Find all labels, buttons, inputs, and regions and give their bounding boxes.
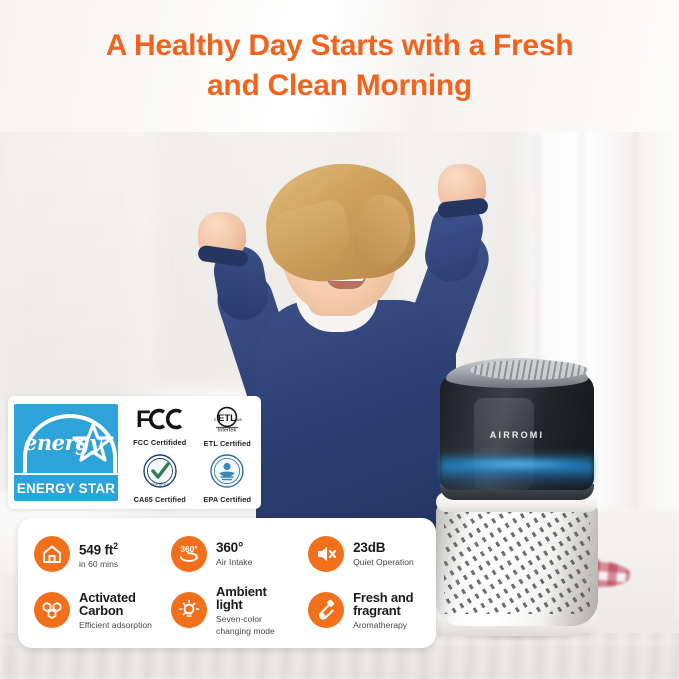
cert-label-fcc: FCC Certifided — [133, 438, 186, 447]
cert-item-fcc: F FCC Certifided — [126, 401, 194, 453]
feature-aromatherapy: Fresh and fragrant Aromatherapy — [308, 591, 436, 630]
air-purifier-product: AIRROMI — [434, 358, 600, 638]
svg-text:CERTIFIED: CERTIFIED — [150, 483, 169, 487]
feature-title: 360° — [216, 541, 252, 555]
feature-noise-level: 23dB Quiet Operation — [308, 536, 436, 572]
feature-subtitle: Aromatherapy — [353, 620, 413, 630]
svg-text:F: F — [136, 407, 150, 431]
energy-star-logo-top: energy — [14, 404, 118, 473]
product-marketing-image: AIRROMI A Healthy Day Starts with a Fres… — [0, 0, 679, 679]
energy-star-wordmark-text: ENERGY STAR — [17, 481, 115, 496]
feature-highlights-card: 549 ft2 in 60 mins 360° 360° Air Intake — [18, 518, 436, 648]
feature-title: Activated — [79, 591, 152, 605]
coverage-value: 549 ft — [79, 542, 113, 557]
svg-text:c: c — [214, 417, 217, 422]
led-glow-core — [444, 458, 590, 470]
cert-label-etl: ETL Certified — [204, 439, 251, 448]
cert-item-etl: ETL c us Intertek ETL Certified — [194, 401, 262, 453]
ca65-seal-icon: CERTIFIED — [143, 454, 177, 493]
energy-star-wordmark: ENERGY STAR — [14, 475, 118, 501]
feature-row-2: Activated Carbon Efficient adsorption — [18, 582, 436, 638]
honeycomb-carbon-icon — [34, 592, 70, 628]
led-glow-ring — [440, 450, 594, 490]
feature-title: Fresh and — [353, 591, 413, 605]
svg-text:Intertek: Intertek — [218, 427, 237, 431]
energy-star-logo: energy ENERGY STAR — [14, 404, 118, 501]
feature-text: 23dB Quiet Operation — [353, 541, 414, 567]
feature-title: 23dB — [353, 541, 414, 555]
page-title: A Healthy Day Starts with a Fresh and Cl… — [0, 26, 679, 106]
lightbulb-icon — [171, 592, 207, 628]
purifier-top-cap — [446, 358, 588, 388]
feature-title-2: Carbon — [79, 604, 152, 618]
feature-subtitle: in 60 mins — [79, 559, 118, 569]
etl-icon: ETL c us Intertek — [206, 406, 248, 437]
feature-coverage-area: 549 ft2 in 60 mins — [18, 536, 171, 572]
svg-text:ETL: ETL — [218, 413, 236, 424]
cert-label-ca65: CA65 Certified — [134, 495, 186, 504]
feature-ambient-light: Ambient light Seven-color changing mode — [171, 585, 308, 636]
wall-panel-left-blur — [0, 130, 150, 430]
feature-subtitle: Quiet Operation — [353, 557, 414, 567]
brand-logo: AIRROMI — [440, 430, 594, 440]
headline-line-1: A Healthy Day Starts with a Fresh — [106, 29, 573, 62]
coverage-superscript: 2 — [113, 541, 118, 551]
feature-text: 549 ft2 in 60 mins — [79, 539, 118, 570]
air-outlet-grille — [470, 360, 588, 380]
body-shading — [436, 504, 598, 626]
feature-text: Activated Carbon Efficient adsorption — [79, 591, 152, 630]
house-icon — [34, 536, 70, 572]
feature-subtitle: Air Intake — [216, 557, 252, 567]
feature-activated-carbon: Activated Carbon Efficient adsorption — [18, 591, 171, 630]
fcc-icon: F — [136, 407, 184, 436]
feature-subtitle: Efficient adsorption — [79, 620, 152, 630]
feature-title-2: fragrant — [353, 604, 413, 618]
feature-title-2: light — [216, 598, 275, 612]
feature-text: Ambient light Seven-color changing mode — [216, 585, 275, 636]
cert-label-epa: EPA Certified — [203, 495, 251, 504]
feature-title: 549 ft2 — [79, 539, 118, 558]
cert-item-ca65: CERTIFIED CA65 Certified — [126, 453, 194, 505]
feature-subtitle-2: changing mode — [216, 626, 275, 636]
navy-shirt-torso — [256, 300, 456, 550]
feature-subtitle: Seven-color — [216, 614, 275, 624]
cert-item-epa: EPA Certified — [194, 453, 262, 505]
feature-text: 360° Air Intake — [216, 541, 252, 567]
feature-text: Fresh and fragrant Aromatherapy — [353, 591, 413, 630]
mute-speaker-icon — [308, 536, 344, 572]
feature-title: Ambient — [216, 585, 275, 599]
feature-air-intake: 360° 360° Air Intake — [171, 536, 308, 572]
rotation-360-icon: 360° — [171, 536, 207, 572]
certification-card: energy ENERGY STAR F — [8, 396, 261, 509]
feature-row-1: 549 ft2 in 60 mins 360° 360° Air Intake — [18, 526, 436, 582]
certification-marks-grid: F FCC Certifided ETL c us — [118, 401, 261, 505]
headline-line-2: and Clean Morning — [0, 66, 679, 106]
svg-text:us: us — [237, 417, 243, 422]
dropper-icon — [308, 592, 344, 628]
epa-seal-icon — [210, 454, 244, 493]
purifier-body-mesh — [436, 504, 598, 626]
star-icon — [72, 422, 114, 469]
